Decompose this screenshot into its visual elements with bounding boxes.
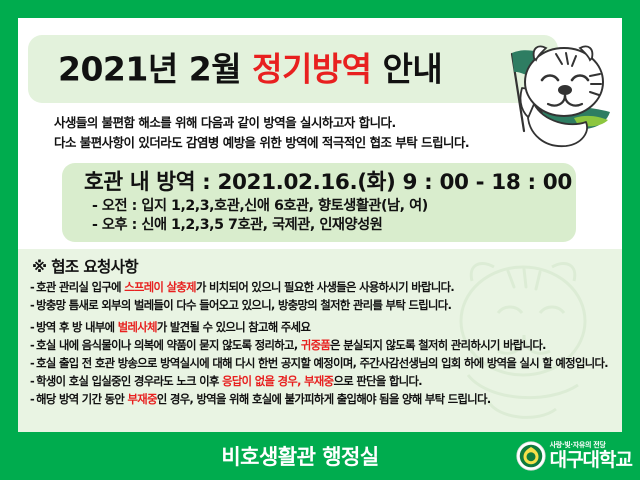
plain-phrase: 방역 후 방 내부에 (36, 321, 118, 334)
plain-phrase: 은 분실되지 않도록 철저히 관리하시기 바랍니다. (330, 339, 546, 352)
poster-root: 2021년 2월 정기방역 안내 (0, 0, 640, 480)
university-wordmark: 사랑·빛·자유의 전당 대구대학교 (550, 442, 632, 470)
schedule-headline: 호관 내 방역 : 2021.02.16.(화) 9 : 00 - 18 : 0… (84, 170, 576, 197)
content-card: 2021년 2월 정기방역 안내 (18, 18, 622, 432)
cooperation-item-text: 학생이 호실 입실중인 경우라도 노크 이후 응답이 없을 경우, 부재중으로 … (36, 374, 618, 390)
cooperation-item: -호실 내에 음식물이나 의복에 약품이 묻지 않도록 정리하고, 귀중품은 분… (30, 338, 618, 354)
plain-phrase: 방충망 틈새로 외부의 벌레들이 다수 들어오고 있으니, 방충망의 철저한 관… (36, 299, 451, 312)
accent-phrase: 귀중품 (301, 339, 330, 352)
plain-phrase: 호실 내에 음식물이나 의복에 약품이 묻지 않도록 정리하고, (36, 339, 301, 352)
schedule-afternoon: - 오후 : 신애 1,2,3,5 7호관, 국제관, 인재양성원 (84, 216, 576, 235)
cooperation-item: -해당 방역 기간 동안 부재중인 경우, 방역을 위해 호실에 불가피하게 출… (30, 392, 618, 408)
footer-bar: 비호생활관 행정실 사랑·빛·자유의 전당 대구대학교 (0, 432, 640, 480)
university-tagline: 사랑·빛·자유의 전당 (550, 442, 632, 449)
bullet-dash: - (30, 392, 34, 408)
cooperation-panel: ※ 협조 요청사항 -호관 관리실 입구에 스프레이 살충제가 비치되어 있으니… (18, 249, 622, 432)
plain-phrase: 가 발견될 수 있으니 참고해 주세요 (157, 321, 310, 334)
cooperation-item-text: 호실 출입 전 호관 방송으로 방역실시에 대해 다시 한번 공지할 예정이며,… (36, 356, 618, 372)
plain-phrase: 해당 방역 기간 동안 (36, 393, 127, 406)
cooperation-item-text: 호관 관리실 입구에 스프레이 살충제가 비치되어 있으니 필요한 사생들은 사… (36, 280, 618, 296)
title-suffix: 안내 (383, 50, 443, 89)
cooperation-item-text: 해당 방역 기간 동안 부재중인 경우, 방역을 위해 호실에 불가피하게 출입… (36, 392, 618, 408)
plain-phrase: 호관 관리실 입구에 (36, 281, 124, 294)
university-emblem-icon (516, 441, 546, 471)
cooperation-item: -방충망 틈새로 외부의 벌레들이 다수 들어오고 있으니, 방충망의 철저한 … (30, 298, 618, 314)
schedule-morning: - 오전 : 입지 1,2,3,호관,신애 6호관, 향토생활관(남, 여) (84, 197, 576, 216)
title-accent: 정기방역 (252, 50, 371, 89)
cooperation-item-text: 호실 내에 음식물이나 의복에 약품이 묻지 않도록 정리하고, 귀중품은 분실… (36, 338, 618, 354)
title-year-suffix: 년 (148, 50, 178, 89)
cooperation-item: -방역 후 방 내부에 벌레사체가 발견될 수 있으니 참고해 주세요 (30, 320, 618, 336)
accent-phrase: 부재중 (128, 393, 157, 406)
plain-phrase: 가 비치되어 있으니 필요한 사생들은 사용하시기 바랍니다. (196, 281, 454, 294)
bullet-dash: - (30, 280, 34, 296)
cooperation-item: -호관 관리실 입구에 스프레이 살충제가 비치되어 있으니 필요한 사생들은 … (30, 280, 618, 296)
bullet-dash: - (30, 320, 34, 336)
plain-phrase: 인 경우, 방역을 위해 호실에 불가피하게 출입해야 됨을 양해 부탁 드립니… (157, 393, 491, 406)
bullet-dash: - (30, 356, 34, 372)
accent-phrase: 벌레사체 (118, 321, 157, 334)
title-year: 2021 (58, 50, 148, 89)
title-month: 2 (189, 50, 211, 89)
cooperation-item-text: 방충망 틈새로 외부의 벌레들이 다수 들어오고 있으니, 방충망의 철저한 관… (36, 298, 618, 314)
title-banner: 2021년 2월 정기방역 안내 (28, 35, 558, 103)
title-month-suffix: 월 (211, 50, 241, 89)
bullet-dash: - (30, 338, 34, 354)
plain-phrase: 으로 판단을 합니다. (333, 375, 421, 388)
cooperation-item: -학생이 호실 입실중인 경우라도 노크 이후 응답이 없을 경우, 부재중으로… (30, 374, 618, 390)
cooperation-item-text: 방역 후 방 내부에 벌레사체가 발견될 수 있으니 참고해 주세요 (36, 320, 618, 336)
university-brand: 사랑·빛·자유의 전당 대구대학교 (516, 441, 632, 471)
intro-paragraph: 사생들의 불편함 해소를 위해 다음과 같이 방역을 실시하고자 합니다. 다소… (54, 113, 594, 153)
cooperation-list: -호관 관리실 입구에 스프레이 살충제가 비치되어 있으니 필요한 사생들은 … (30, 280, 618, 410)
accent-phrase: 응답이 없을 경우, 부재중 (222, 375, 333, 388)
bullet-dash: - (30, 298, 34, 314)
accent-phrase: 스프레이 살충제 (124, 281, 196, 294)
page-title: 2021년 2월 정기방역 안내 (58, 53, 442, 86)
intro-line-1: 사생들의 불편함 해소를 위해 다음과 같이 방역을 실시하고자 합니다. (54, 113, 594, 133)
plain-phrase: 호실 출입 전 호관 방송으로 방역실시에 대해 다시 한번 공지할 예정이며,… (36, 357, 608, 370)
schedule-box: 호관 내 방역 : 2021.02.16.(화) 9 : 00 - 18 : 0… (62, 163, 576, 242)
bullet-dash: - (30, 374, 34, 390)
university-name: 대구대학교 (550, 451, 632, 470)
cooperation-item: -호실 출입 전 호관 방송으로 방역실시에 대해 다시 한번 공지할 예정이며… (30, 356, 618, 372)
intro-line-2: 다소 불편사항이 있더라도 감염병 예방을 위한 방역에 적극적인 협조 부탁 … (54, 133, 594, 153)
plain-phrase: 학생이 호실 입실중인 경우라도 노크 이후 (36, 375, 222, 388)
cooperation-heading: ※ 협조 요청사항 (32, 255, 138, 277)
